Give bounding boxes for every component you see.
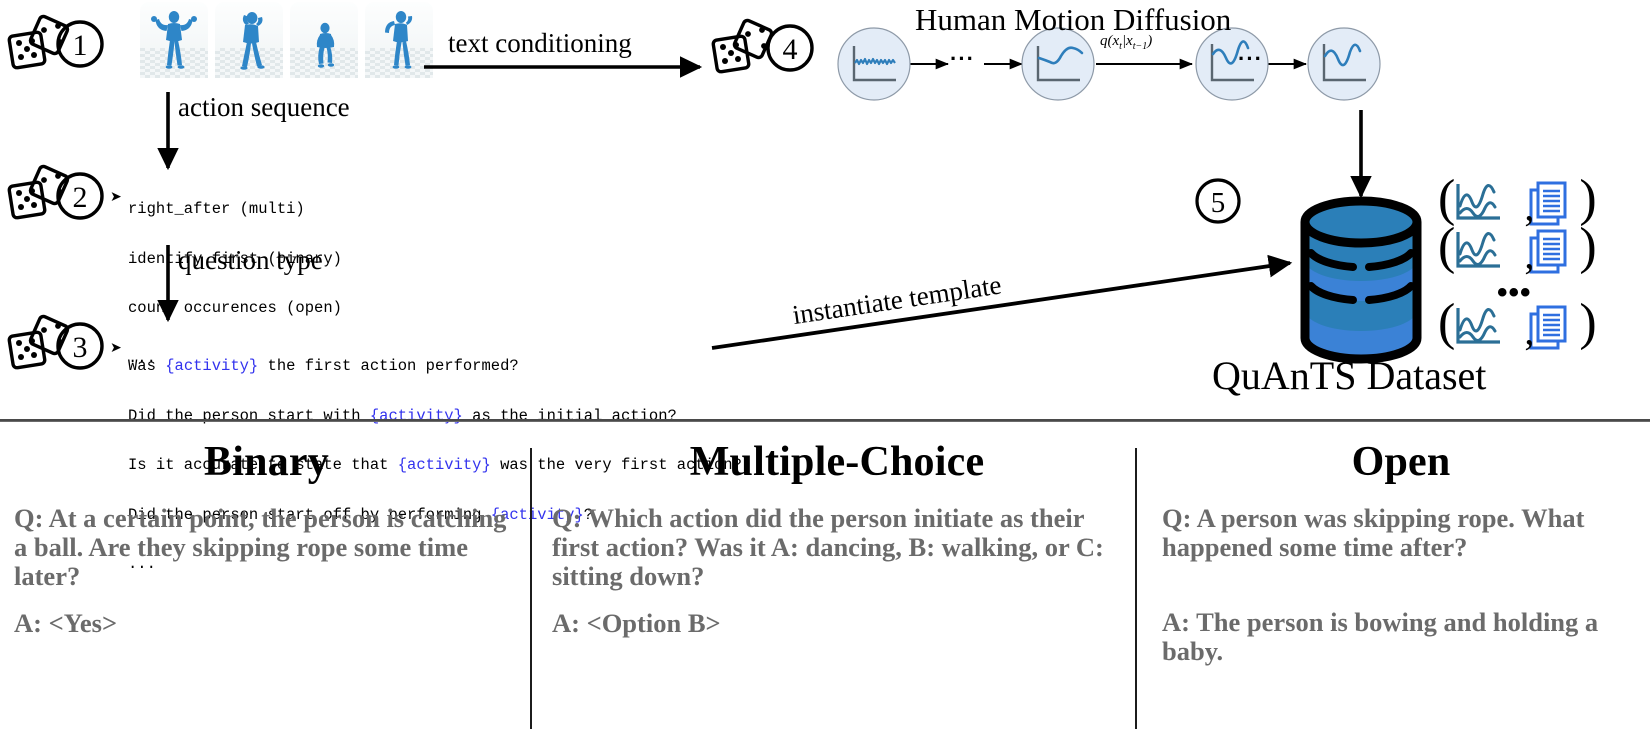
diffusion-state-noise (838, 28, 910, 100)
column-divider-1 (530, 448, 532, 729)
q-notation-end: ) (1147, 33, 1152, 49)
tuple-close-paren: ) (1579, 300, 1596, 347)
tuple-comma: , (1521, 189, 1537, 225)
motion-thumb-2 (215, 2, 283, 78)
step-circle-3: 3 (58, 324, 102, 368)
step-circle-4: 4 (768, 26, 812, 70)
qa-title-multiple-choice: Multiple-Choice (552, 438, 1122, 486)
qa-question-multiple-choice: Q: Which action did the person initiate … (552, 504, 1122, 591)
motion-thumbnail-strip (140, 2, 433, 78)
qa-column-multiple-choice: Multiple-Choice Q: Which action did the … (552, 424, 1122, 729)
qa-column-open: Open Q: A person was skipping rope. What… (1162, 424, 1640, 729)
diffusion-state-final (1308, 28, 1380, 100)
database-label: QuAnTS Dataset (1212, 352, 1486, 399)
q-notation-sub2: t−1 (1133, 41, 1148, 52)
pipeline-diagram: 1 2 3 4 5 (0, 0, 1650, 420)
column-divider-2 (1135, 448, 1137, 729)
tuple-open-paren: ( (1438, 176, 1455, 223)
question-type-line: count occurences (open) (128, 300, 342, 317)
diffusion-ellipsis-left: ··· (950, 46, 975, 72)
qa-question-open: Q: A person was skipping rope. What happ… (1162, 504, 1640, 562)
template-bullet: ➤ (110, 339, 122, 356)
tuple-row-2: ( , ) (1438, 224, 1597, 271)
tuple-close-paren: ) (1579, 224, 1596, 271)
qa-answer-open: A: The person is bowing and holding a ba… (1162, 608, 1640, 666)
tuple-row-1: ( , ) (1438, 176, 1597, 223)
label-action-sequence: action sequence (178, 92, 350, 123)
svg-text:2: 2 (73, 181, 88, 214)
qa-answer-binary: A: <Yes> (14, 609, 519, 638)
diffusion-transition-label: q(xt|xt−1) (1100, 33, 1152, 52)
motion-thumb-1 (140, 2, 208, 78)
step-circle-2: 2 (58, 174, 102, 218)
step-circle-5: 5 (1197, 180, 1239, 222)
diffusion-state-partial (1022, 28, 1094, 100)
template-post: the first action performed? (258, 357, 518, 375)
question-type-line: right_after (multi) (128, 201, 342, 218)
motion-thumb-4 (365, 2, 433, 78)
tuple-open-paren: ( (1438, 224, 1455, 271)
database-cylinder-icon (1305, 201, 1417, 359)
qa-column-binary: Binary Q: At a certain point, the person… (14, 424, 519, 729)
question-type-bullet: ➤ (110, 188, 122, 205)
step-circle-1: 1 (58, 22, 102, 66)
diffusion-ellipsis-right: ··· (1238, 46, 1263, 72)
motion-thumb-3 (290, 2, 358, 78)
tuple-comma: , (1521, 237, 1537, 273)
svg-text:4: 4 (783, 33, 798, 66)
q-notation-mid: |x (1122, 33, 1133, 49)
qa-title-open: Open (1162, 438, 1640, 486)
svg-text:3: 3 (73, 331, 88, 364)
svg-text:1: 1 (73, 29, 88, 62)
label-text-conditioning: text conditioning (448, 28, 632, 59)
qa-question-binary: Q: At a certain point, the person is cat… (14, 504, 519, 591)
template-placeholder: {activity} (165, 357, 258, 375)
q-notation-head: q(x (1100, 33, 1119, 49)
dice-icon-step4 (713, 19, 773, 72)
svg-text:5: 5 (1211, 187, 1226, 219)
template-pre: Was (128, 357, 165, 375)
template-line: Was {activity} the first action performe… (128, 358, 742, 375)
tuple-open-paren: ( (1438, 300, 1455, 347)
tuple-close-paren: ) (1579, 176, 1596, 223)
qa-answer-multiple-choice: A: <Option B> (552, 609, 1122, 638)
section-divider (0, 419, 1650, 422)
tuple-comma: , (1521, 313, 1537, 349)
tuple-row-3: ( , ) (1438, 300, 1597, 347)
qa-title-binary: Binary (14, 438, 519, 486)
question-type-line: identify first (binary) (128, 251, 342, 268)
diffusion-title: Human Motion Diffusion (915, 2, 1231, 38)
